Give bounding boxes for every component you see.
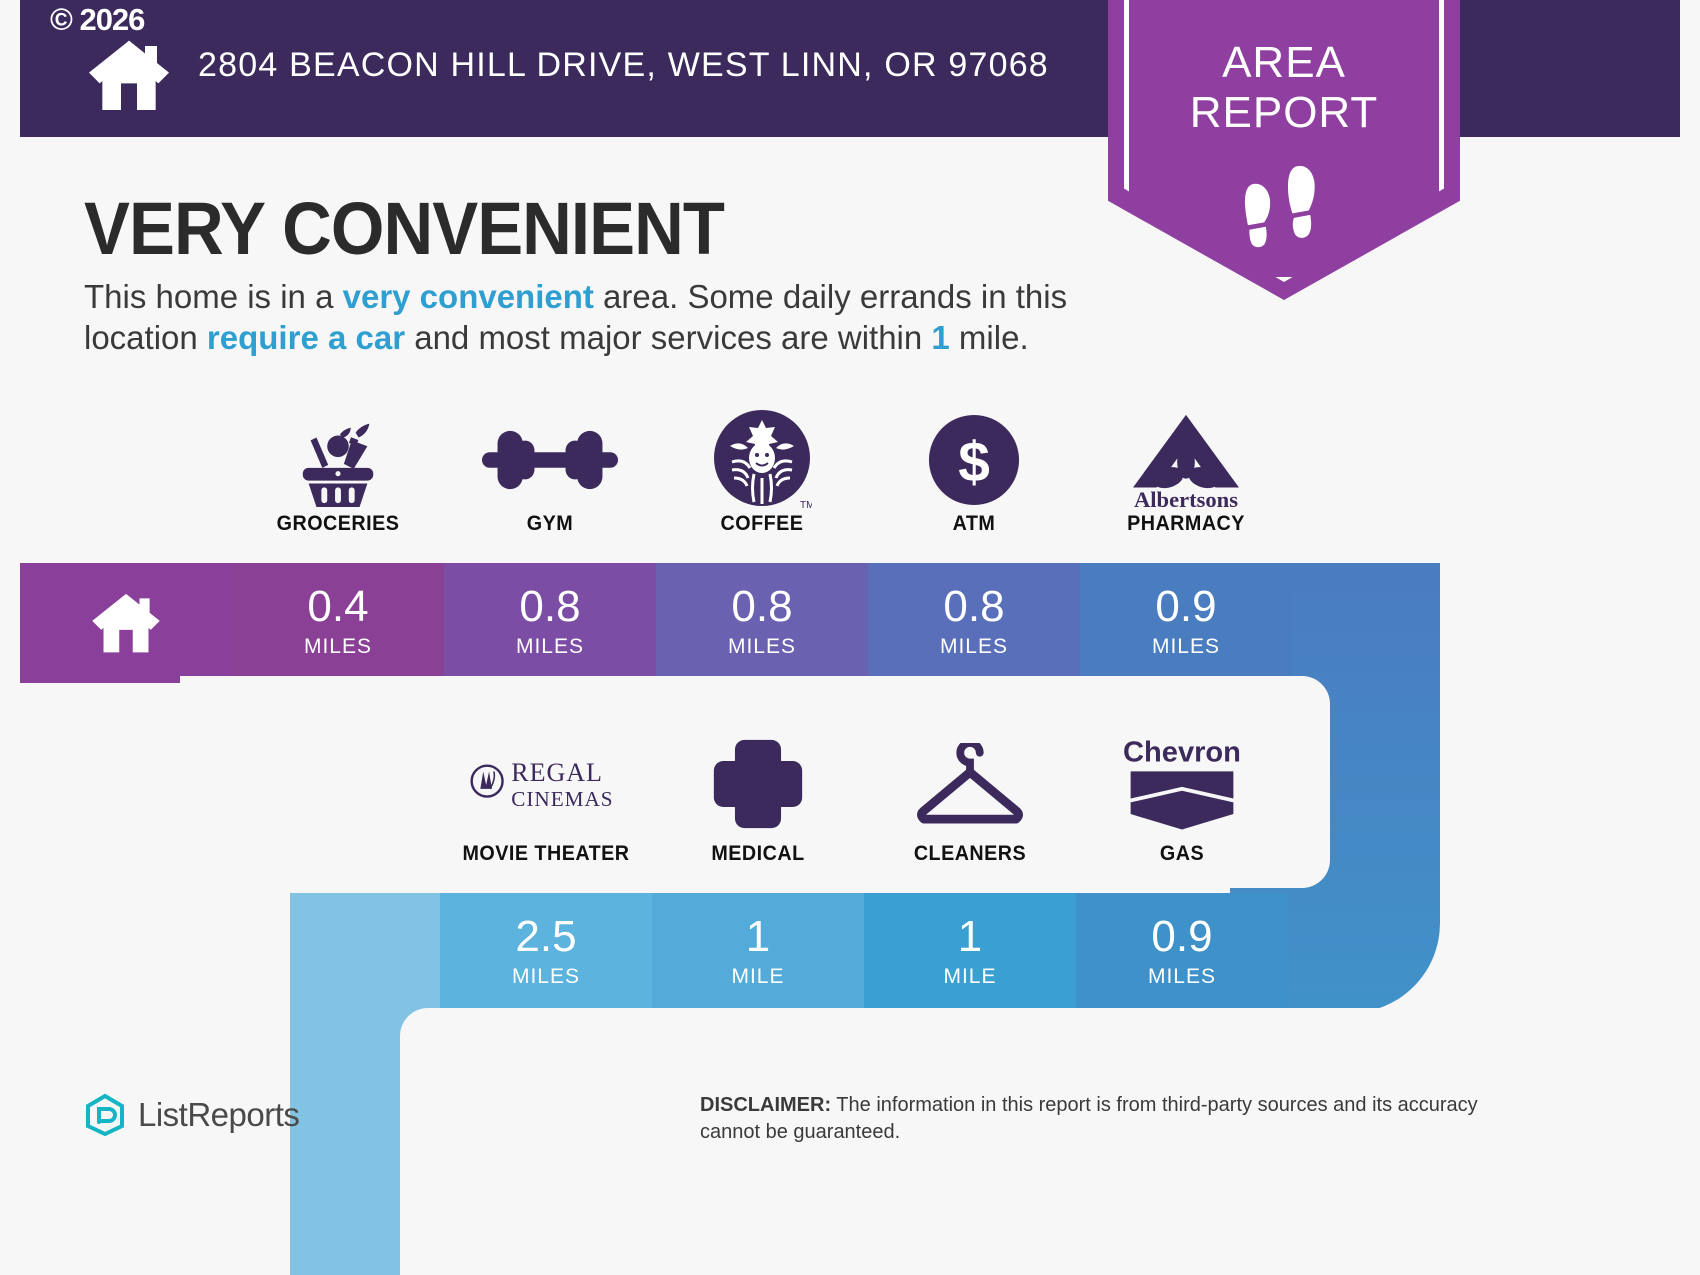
amenity-label: PHARMACY [1086, 512, 1285, 536]
svg-text:Albertsons: Albertsons [1134, 487, 1238, 511]
summary-part-4: mile. [950, 319, 1029, 356]
disclaimer: DISCLAIMER: The information in this repo… [700, 1092, 1500, 1146]
medical-cross-icon [652, 726, 864, 842]
summary-accent-3: 1 [931, 319, 949, 356]
copyright-text: © 2026 [50, 2, 144, 38]
summary-part-3: and most major services are within [405, 319, 931, 356]
svg-text:CINEMAS: CINEMAS [511, 787, 613, 811]
area-report-page: © 2026 2804 BEACON HILL DRIVE, WEST LINN… [0, 0, 1700, 1275]
property-address: 2804 BEACON HILL DRIVE, WEST LINN, OR 97… [198, 46, 1049, 85]
distance-cell-gas: 0.9 MILES [1076, 893, 1288, 1013]
dumbbell-icon [444, 408, 656, 512]
distance-cell-coffee: 0.8 MILES [656, 563, 868, 683]
distance-cell-medical: 1 MILE [652, 893, 864, 1013]
distance-unit: MILES [444, 635, 656, 659]
distance-bar-row-2: 2.5 MILES 1 MILE 1 MILE 0.9 MILES [290, 893, 1440, 1013]
starbucks-logo-icon: TM [656, 408, 868, 512]
distance-bar-row-1: 0.4 MILES 0.8 MILES 0.8 MILES 0.8 MILES … [20, 563, 1440, 683]
amenity-medical: MEDICAL [652, 726, 864, 886]
distance-cell-cleaners: 1 MILE [864, 893, 1076, 1013]
amenity-movie-theater: REGAL CINEMAS MOVIE THEATER [440, 726, 652, 886]
distance-value: 0.8 [656, 585, 868, 629]
amenity-label: CLEANERS [870, 842, 1069, 866]
svg-text:$: $ [958, 432, 990, 495]
listreports-logo[interactable]: ListReports [84, 1090, 334, 1140]
distance-unit: MILE [652, 965, 864, 989]
footprints-icon [1240, 160, 1330, 252]
amenity-label: GAS [1082, 842, 1281, 866]
clothes-hanger-icon [864, 726, 1076, 842]
summary-accent-1: very convenient [343, 278, 594, 315]
amenity-gas: Chevron GAS [1076, 726, 1288, 886]
amenity-label: ATM [874, 512, 1073, 536]
svg-text:REGAL: REGAL [511, 758, 603, 787]
amenity-icons-row-1: GROCERIES GYM [232, 408, 1448, 558]
grocery-basket-icon [232, 408, 444, 512]
amenity-label: GYM [450, 512, 649, 536]
distance-value: 0.4 [232, 585, 444, 629]
distance-value: 1 [652, 915, 864, 959]
amenity-icons-row-2: REGAL CINEMAS MOVIE THEATER MEDICAL C [440, 726, 1450, 886]
distance-unit: MILES [440, 965, 652, 989]
summary-part-1: This home is in a [84, 278, 343, 315]
distance-unit: MILES [1080, 635, 1292, 659]
chevron-logo-icon: Chevron [1076, 726, 1288, 842]
distance-value: 0.8 [444, 585, 656, 629]
distance-cell-groceries: 0.4 MILES [232, 563, 444, 683]
amenity-gym: GYM [444, 408, 656, 558]
badge-line-1: AREA [1108, 38, 1460, 88]
distance-value: 0.8 [868, 585, 1080, 629]
distance-value: 0.9 [1076, 915, 1288, 959]
regal-cinemas-logo-icon: REGAL CINEMAS [440, 726, 652, 842]
distance-unit: MILES [232, 635, 444, 659]
badge-text: AREA REPORT [1108, 38, 1460, 138]
home-icon [85, 38, 173, 110]
distance-value: 0.9 [1080, 585, 1292, 629]
distance-unit: MILES [868, 635, 1080, 659]
amenity-groceries: GROCERIES [232, 408, 444, 558]
svg-text:TM: TM [800, 500, 812, 511]
amenity-atm: $ ATM [868, 408, 1080, 558]
albertsons-logo-icon: Albertsons [1080, 408, 1292, 512]
distance-unit: MILES [1076, 965, 1288, 989]
distance-value: 2.5 [440, 915, 652, 959]
amenity-cleaners: CLEANERS [864, 726, 1076, 886]
distance-cell-movie-theater: 2.5 MILES [440, 893, 652, 1013]
distance-cell-atm: 0.8 MILES [868, 563, 1080, 683]
disclaimer-label: DISCLAIMER: [700, 1094, 831, 1116]
amenity-label: GROCERIES [238, 512, 437, 536]
distance-cell-gym: 0.8 MILES [444, 563, 656, 683]
path-lead-segment [290, 893, 440, 1013]
home-icon [90, 591, 162, 653]
page-title: VERY CONVENIENT [84, 186, 724, 271]
distance-unit: MILES [656, 635, 868, 659]
distance-value: 1 [864, 915, 1076, 959]
amenity-label: COFFEE [662, 512, 861, 536]
amenity-label: MEDICAL [658, 842, 857, 866]
svg-text:Chevron: Chevron [1123, 737, 1241, 769]
summary-accent-2: require a car [207, 319, 405, 356]
listreports-logo-icon [84, 1093, 126, 1137]
badge-line-2: REPORT [1108, 88, 1460, 138]
dollar-circle-icon: $ [868, 408, 1080, 512]
amenity-pharmacy: Albertsons PHARMACY [1080, 408, 1292, 558]
distance-unit: MILE [864, 965, 1076, 989]
summary-text: This home is in a very convenient area. … [84, 276, 1114, 358]
home-segment [20, 563, 232, 683]
listreports-wordmark: ListReports [138, 1096, 299, 1134]
distance-cell-pharmacy: 0.9 MILES [1080, 563, 1292, 683]
amenity-label: MOVIE THEATER [446, 842, 645, 866]
amenity-coffee: TM COFFEE [656, 408, 868, 558]
